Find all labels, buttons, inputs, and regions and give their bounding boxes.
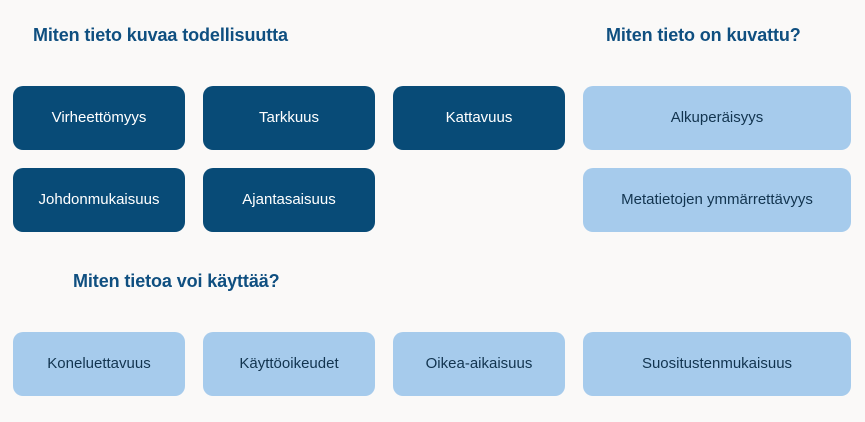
section-heading-usable: Miten tietoa voi käyttää? bbox=[73, 272, 280, 290]
card-johdonmukaisuus[interactable]: Johdonmukaisuus bbox=[13, 168, 185, 232]
card-alkuperaisyys[interactable]: Alkuperäisyys bbox=[583, 86, 851, 150]
section-heading-reality: Miten tieto kuvaa todellisuutta bbox=[33, 26, 288, 44]
card-virheettomyys[interactable]: Virheettömyys bbox=[13, 86, 185, 150]
card-kayttooikeudet[interactable]: Käyttöoikeudet bbox=[203, 332, 375, 396]
card-kattavuus[interactable]: Kattavuus bbox=[393, 86, 565, 150]
infographic-canvas: Miten tieto kuvaa todellisuutta Miten ti… bbox=[0, 0, 865, 422]
section-heading-described: Miten tieto on kuvattu? bbox=[606, 26, 801, 44]
card-oikea-aikaisuus[interactable]: Oikea-aikaisuus bbox=[393, 332, 565, 396]
card-ajantasaisuus[interactable]: Ajantasaisuus bbox=[203, 168, 375, 232]
card-suositustenmukaisuus[interactable]: Suositustenmukaisuus bbox=[583, 332, 851, 396]
card-metatietojen-ymmarrettavyys[interactable]: Metatietojen ymmärrettävyys bbox=[583, 168, 851, 232]
card-tarkkuus[interactable]: Tarkkuus bbox=[203, 86, 375, 150]
card-koneluettavuus[interactable]: Koneluettavuus bbox=[13, 332, 185, 396]
